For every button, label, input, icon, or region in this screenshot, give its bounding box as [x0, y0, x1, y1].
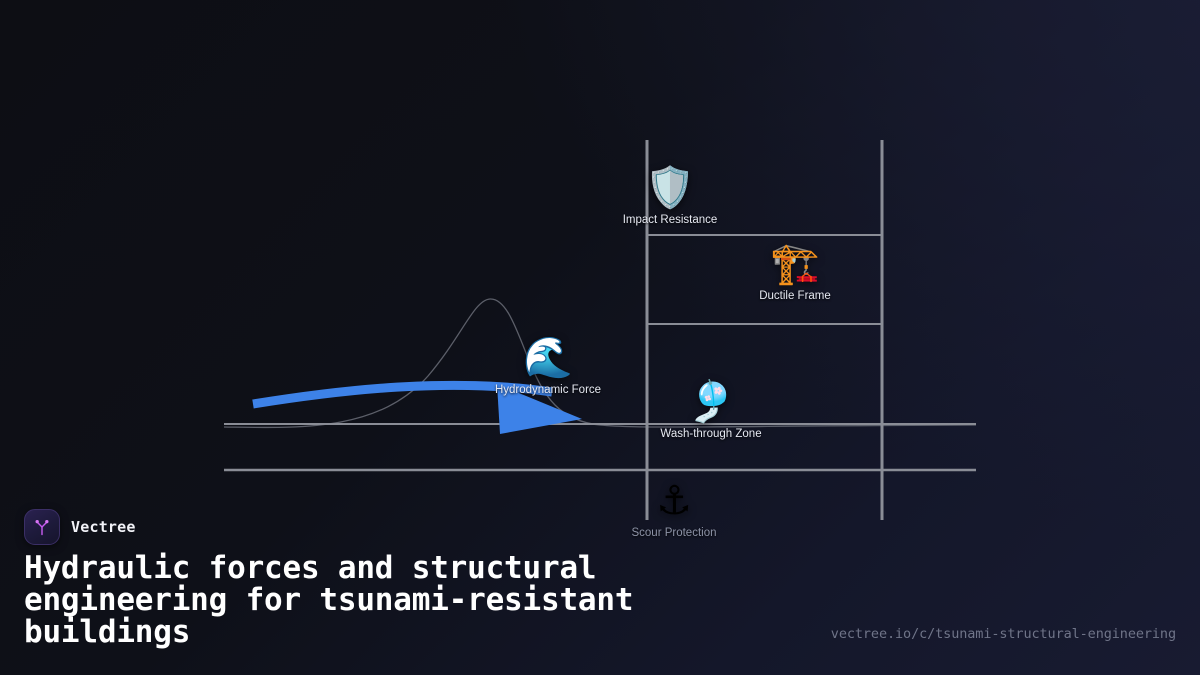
diagram-node-label: Ductile Frame [759, 289, 831, 303]
anchor-icon: ⚓ [656, 478, 692, 524]
shield-icon: 🛡️ [645, 165, 695, 211]
brand-lockup[interactable]: Vectree [24, 509, 136, 545]
tree-glyph-icon [32, 517, 52, 537]
wind-blowing-icon: 🎐 [686, 379, 736, 425]
diagram-node-label: Hydrodynamic Force [495, 383, 601, 397]
share-url: vectree.io/c/tsunami-structural-engineer… [831, 626, 1176, 642]
diagram-node-impact-resistance[interactable]: 🛡️ Impact Resistance [590, 165, 750, 227]
diagram-node-hydrodynamic-force[interactable]: 🌊 Hydrodynamic Force [468, 335, 628, 397]
diagram-node-label: Scour Protection [631, 526, 716, 540]
diagram-node-wash-through-zone[interactable]: 🎐 Wash-through Zone [631, 379, 791, 441]
diagram-node-label: Impact Resistance [623, 213, 718, 227]
share-card: 🛡️ Impact Resistance 🏗️ Ductile Frame 🌊 … [0, 0, 1200, 675]
ocean-wave-icon: 🌊 [523, 335, 573, 381]
vectree-logo-icon [24, 509, 60, 545]
diagram-node-scour-protection[interactable]: ⚓ Scour Protection [594, 478, 754, 540]
brand-name: Vectree [71, 518, 136, 536]
construction-crane-icon: 🏗️ [770, 241, 820, 287]
diagram-node-label: Wash-through Zone [660, 427, 761, 441]
page-title: Hydraulic forces and structural engineer… [24, 552, 794, 648]
diagram-node-ductile-frame[interactable]: 🏗️ Ductile Frame [715, 241, 875, 303]
